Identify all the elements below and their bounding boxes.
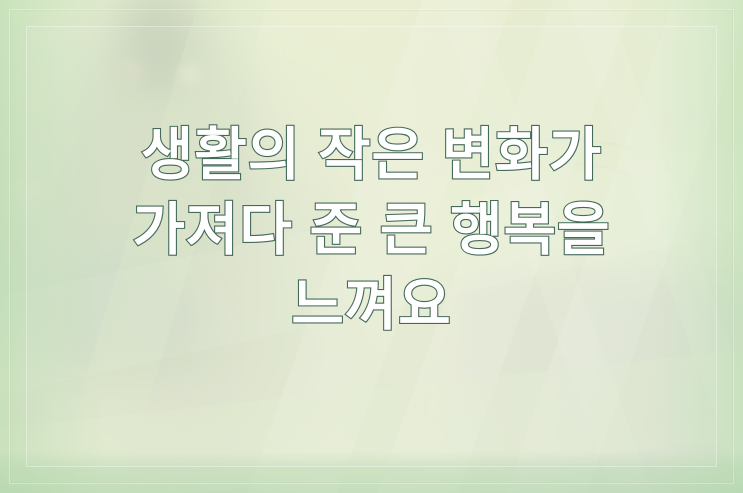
headline-line-3: 느껴요 bbox=[0, 268, 743, 343]
banner-image: 생활의 작은 변화가 가져다 준 큰 행복을 느껴요 bbox=[0, 0, 743, 493]
headline-line-1: 생활의 작은 변화가 bbox=[0, 118, 743, 193]
headline-line-2: 가져다 준 큰 행복을 bbox=[0, 193, 743, 268]
bottom-edge-green-wash bbox=[0, 451, 743, 493]
headline-text-block: 생활의 작은 변화가 가져다 준 큰 행복을 느껴요 bbox=[0, 118, 743, 343]
